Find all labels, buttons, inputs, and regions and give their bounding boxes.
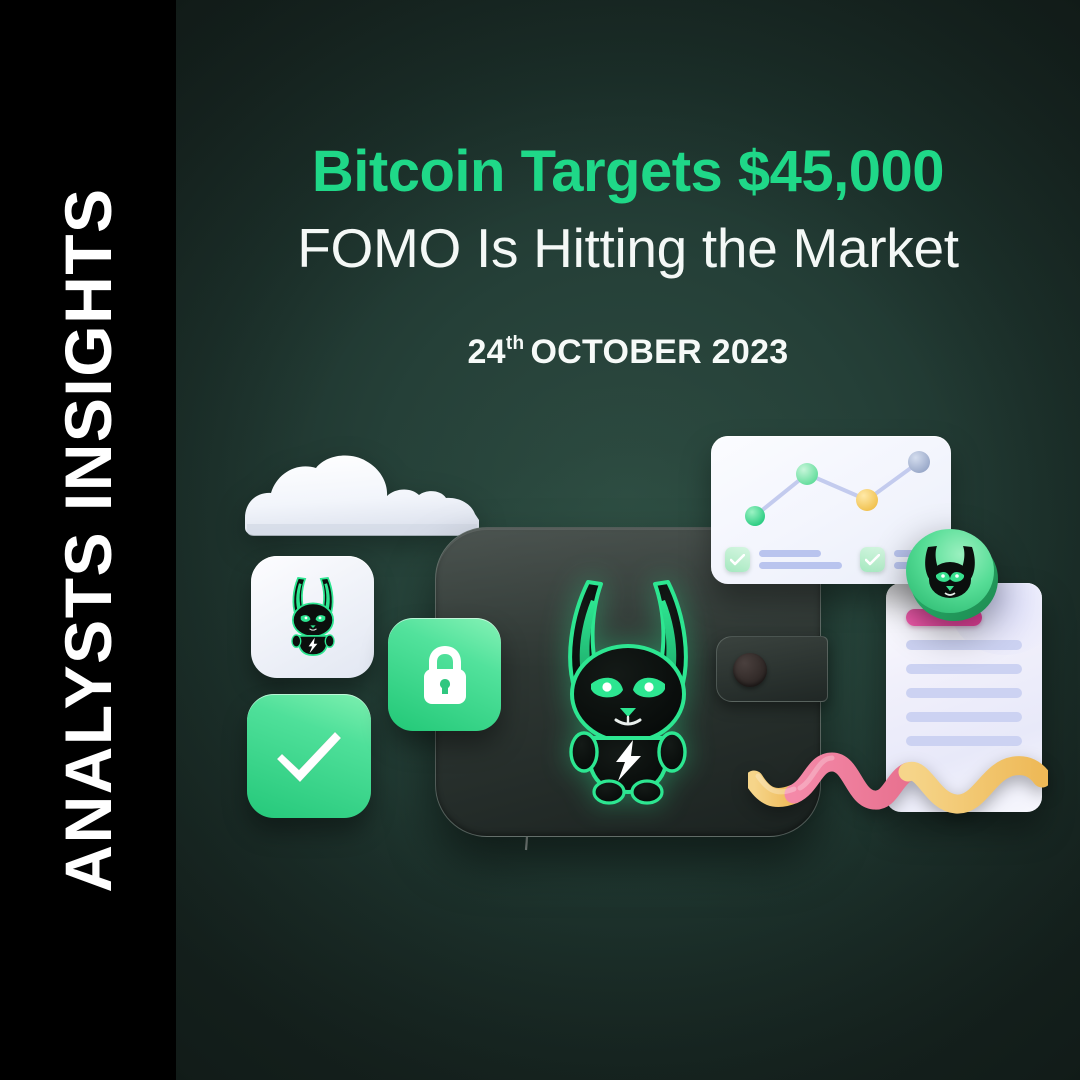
doc-text-line [906,712,1022,722]
sidebar: ANALYSTS INSIGHTS [0,0,176,1080]
chart-legend-row[interactable] [725,547,842,572]
verified-check-card[interactable] [247,694,371,818]
checkmark-icon [272,725,346,787]
illustration-group [176,0,1080,1080]
bunny-coin[interactable] [901,523,1003,625]
placeholder-bars [759,550,842,569]
wallet-clasp-button[interactable] [716,636,828,702]
placeholder-bar [759,550,821,557]
poster-canvas: ANALYSTS INSIGHTS Bitcoin Targets $45,00… [0,0,1080,1080]
mini-checkbox-checked[interactable] [725,547,750,572]
bunny-mascot-icon [269,571,357,663]
security-lock-card[interactable] [388,618,501,731]
bunny-mascot-icon [521,568,735,808]
padlock-icon [417,642,473,708]
wavy-ribbons [748,736,1048,846]
checkmark-icon [730,554,745,566]
doc-text-line [906,664,1022,674]
doc-text-line [906,640,1022,650]
bunny-sticker-card[interactable] [251,556,374,678]
wallet-clasp-dot [733,653,767,687]
placeholder-bar [759,562,842,569]
checkmark-icon [865,554,880,566]
mini-checkbox-checked[interactable] [860,547,885,572]
cloud-shape [239,452,487,542]
main-stage: Bitcoin Targets $45,000 FOMO Is Hitting … [176,0,1080,1080]
line-chart-plot [711,436,951,534]
doc-text-line [906,688,1022,698]
sidebar-brand-label: ANALYSTS INSIGHTS [50,187,126,892]
